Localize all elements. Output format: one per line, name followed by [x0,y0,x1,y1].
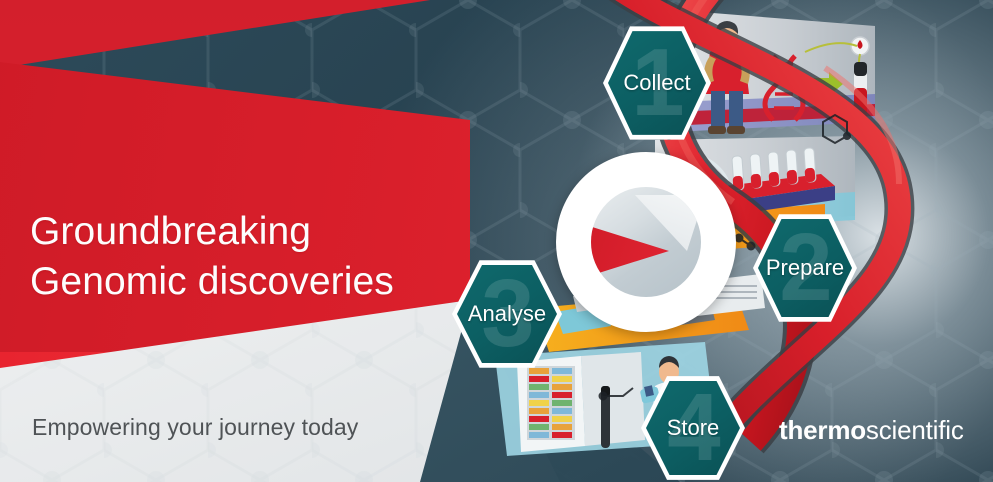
white-wedge-shape [635,195,701,251]
step-badge-store[interactable]: 4 Store [641,374,745,482]
step-label: Store [646,415,740,441]
step-label: Prepare [758,255,852,281]
step-label: Collect [608,70,706,96]
step-label: Analyse [457,301,557,327]
step-badge-collect[interactable]: 1 Collect [603,24,711,142]
ring-hole [591,187,701,297]
step-badge-prepare[interactable]: 2 Prepare [753,212,857,324]
step-badge-analyse[interactable]: 3 Analyse [452,258,562,370]
logo-scientific: scientific [866,415,964,445]
thermo-scientific-logo: thermoscientific [779,415,964,446]
tagline: Empowering your journey today [32,414,358,441]
headline: Groundbreaking Genomic discoveries [30,207,394,307]
logo-thermo: thermo [779,415,866,445]
marketing-banner: 1 Collect 2 Prepare 3 Analyse 4 Store Gr… [0,0,993,482]
play-ring-icon [556,152,736,332]
